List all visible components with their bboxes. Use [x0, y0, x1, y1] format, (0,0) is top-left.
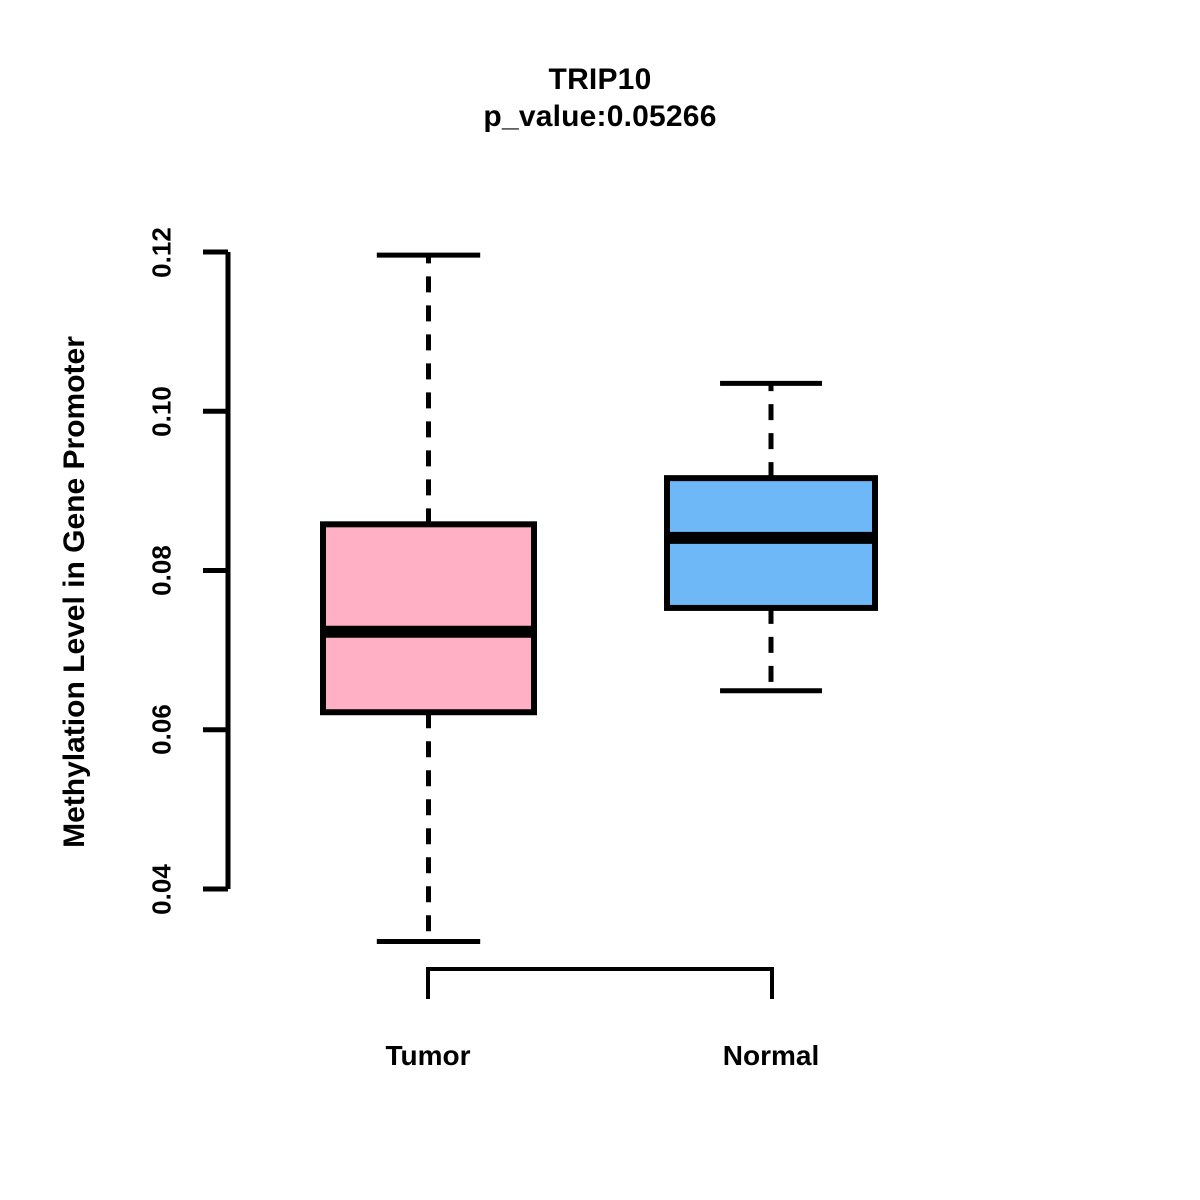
box-tumor: [323, 524, 534, 712]
boxplot-figure: TRIP10 p_value:0.05266 Methylation Level…: [0, 0, 1200, 1200]
x-axis-bracket: [428, 969, 772, 999]
boxplot-group-normal: [665, 383, 877, 690]
plot-canvas: [0, 0, 1200, 1200]
boxplot-group-tumor: [321, 255, 536, 941]
